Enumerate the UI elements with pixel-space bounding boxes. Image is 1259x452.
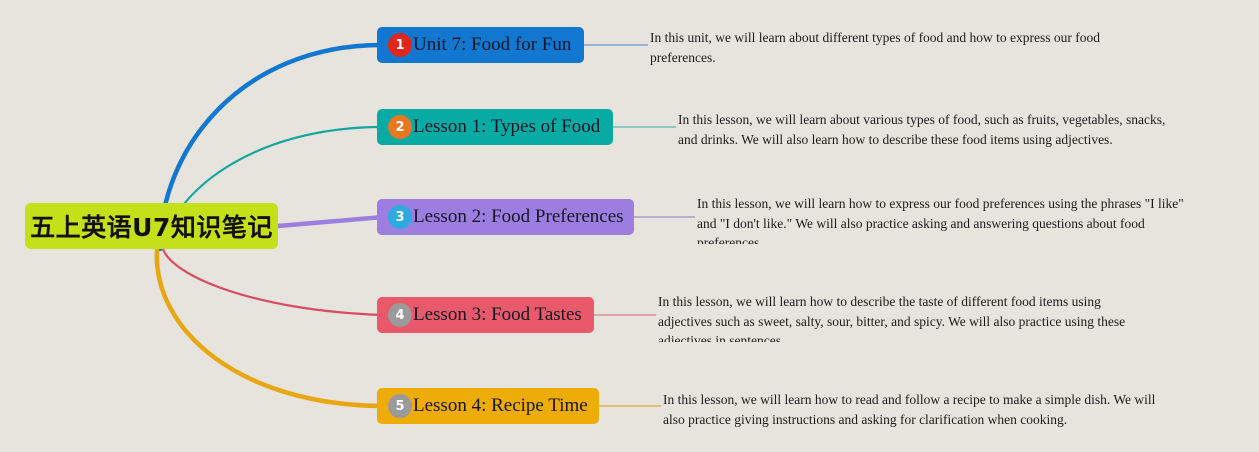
root-node[interactable]: 五上英语U7知识笔记 — [25, 203, 278, 249]
branch-curve-4 — [163, 249, 382, 315]
branch-badge-5: 5 — [388, 394, 412, 418]
branch-badge-4: 4 — [388, 303, 412, 327]
branch-node-4[interactable]: 4 Lesson 3: Food Tastes — [377, 297, 594, 333]
branch-label-1: Unit 7: Food for Fun — [413, 34, 571, 56]
root-node-label: 五上英语U7知识笔记 — [30, 208, 273, 244]
branch-node-3[interactable]: 3 Lesson 2: Food Preferences — [377, 199, 634, 235]
mindmap-canvas: 五上英语U7知识笔记 1 Unit 7: Food for Fun In thi… — [0, 0, 1259, 452]
branch-badge-2: 2 — [388, 115, 412, 139]
branch-description-5: In this lesson, we will learn how to rea… — [663, 390, 1163, 428]
branch-label-2: Lesson 1: Types of Food — [413, 116, 600, 138]
branch-node-5[interactable]: 5 Lesson 4: Recipe Time — [377, 388, 599, 424]
branch-label-5: Lesson 4: Recipe Time — [413, 395, 588, 417]
branch-description-2: In this lesson, we will learn about vari… — [678, 110, 1178, 148]
branch-node-2[interactable]: 2 Lesson 1: Types of Food — [377, 109, 613, 145]
branch-label-4: Lesson 3: Food Tastes — [413, 304, 582, 326]
branch-badge-3: 3 — [388, 205, 412, 229]
branch-curve-5 — [157, 249, 382, 406]
branch-description-3: In this lesson, we will learn how to exp… — [697, 194, 1197, 244]
branch-label-3: Lesson 2: Food Preferences — [413, 206, 624, 228]
branch-node-1[interactable]: 1 Unit 7: Food for Fun — [377, 27, 584, 63]
branch-description-1: In this unit, we will learn about differ… — [650, 28, 1120, 66]
branch-description-4: In this lesson, we will learn how to des… — [658, 292, 1158, 342]
branch-curve-3 — [278, 217, 384, 226]
branch-badge-1: 1 — [388, 33, 412, 57]
